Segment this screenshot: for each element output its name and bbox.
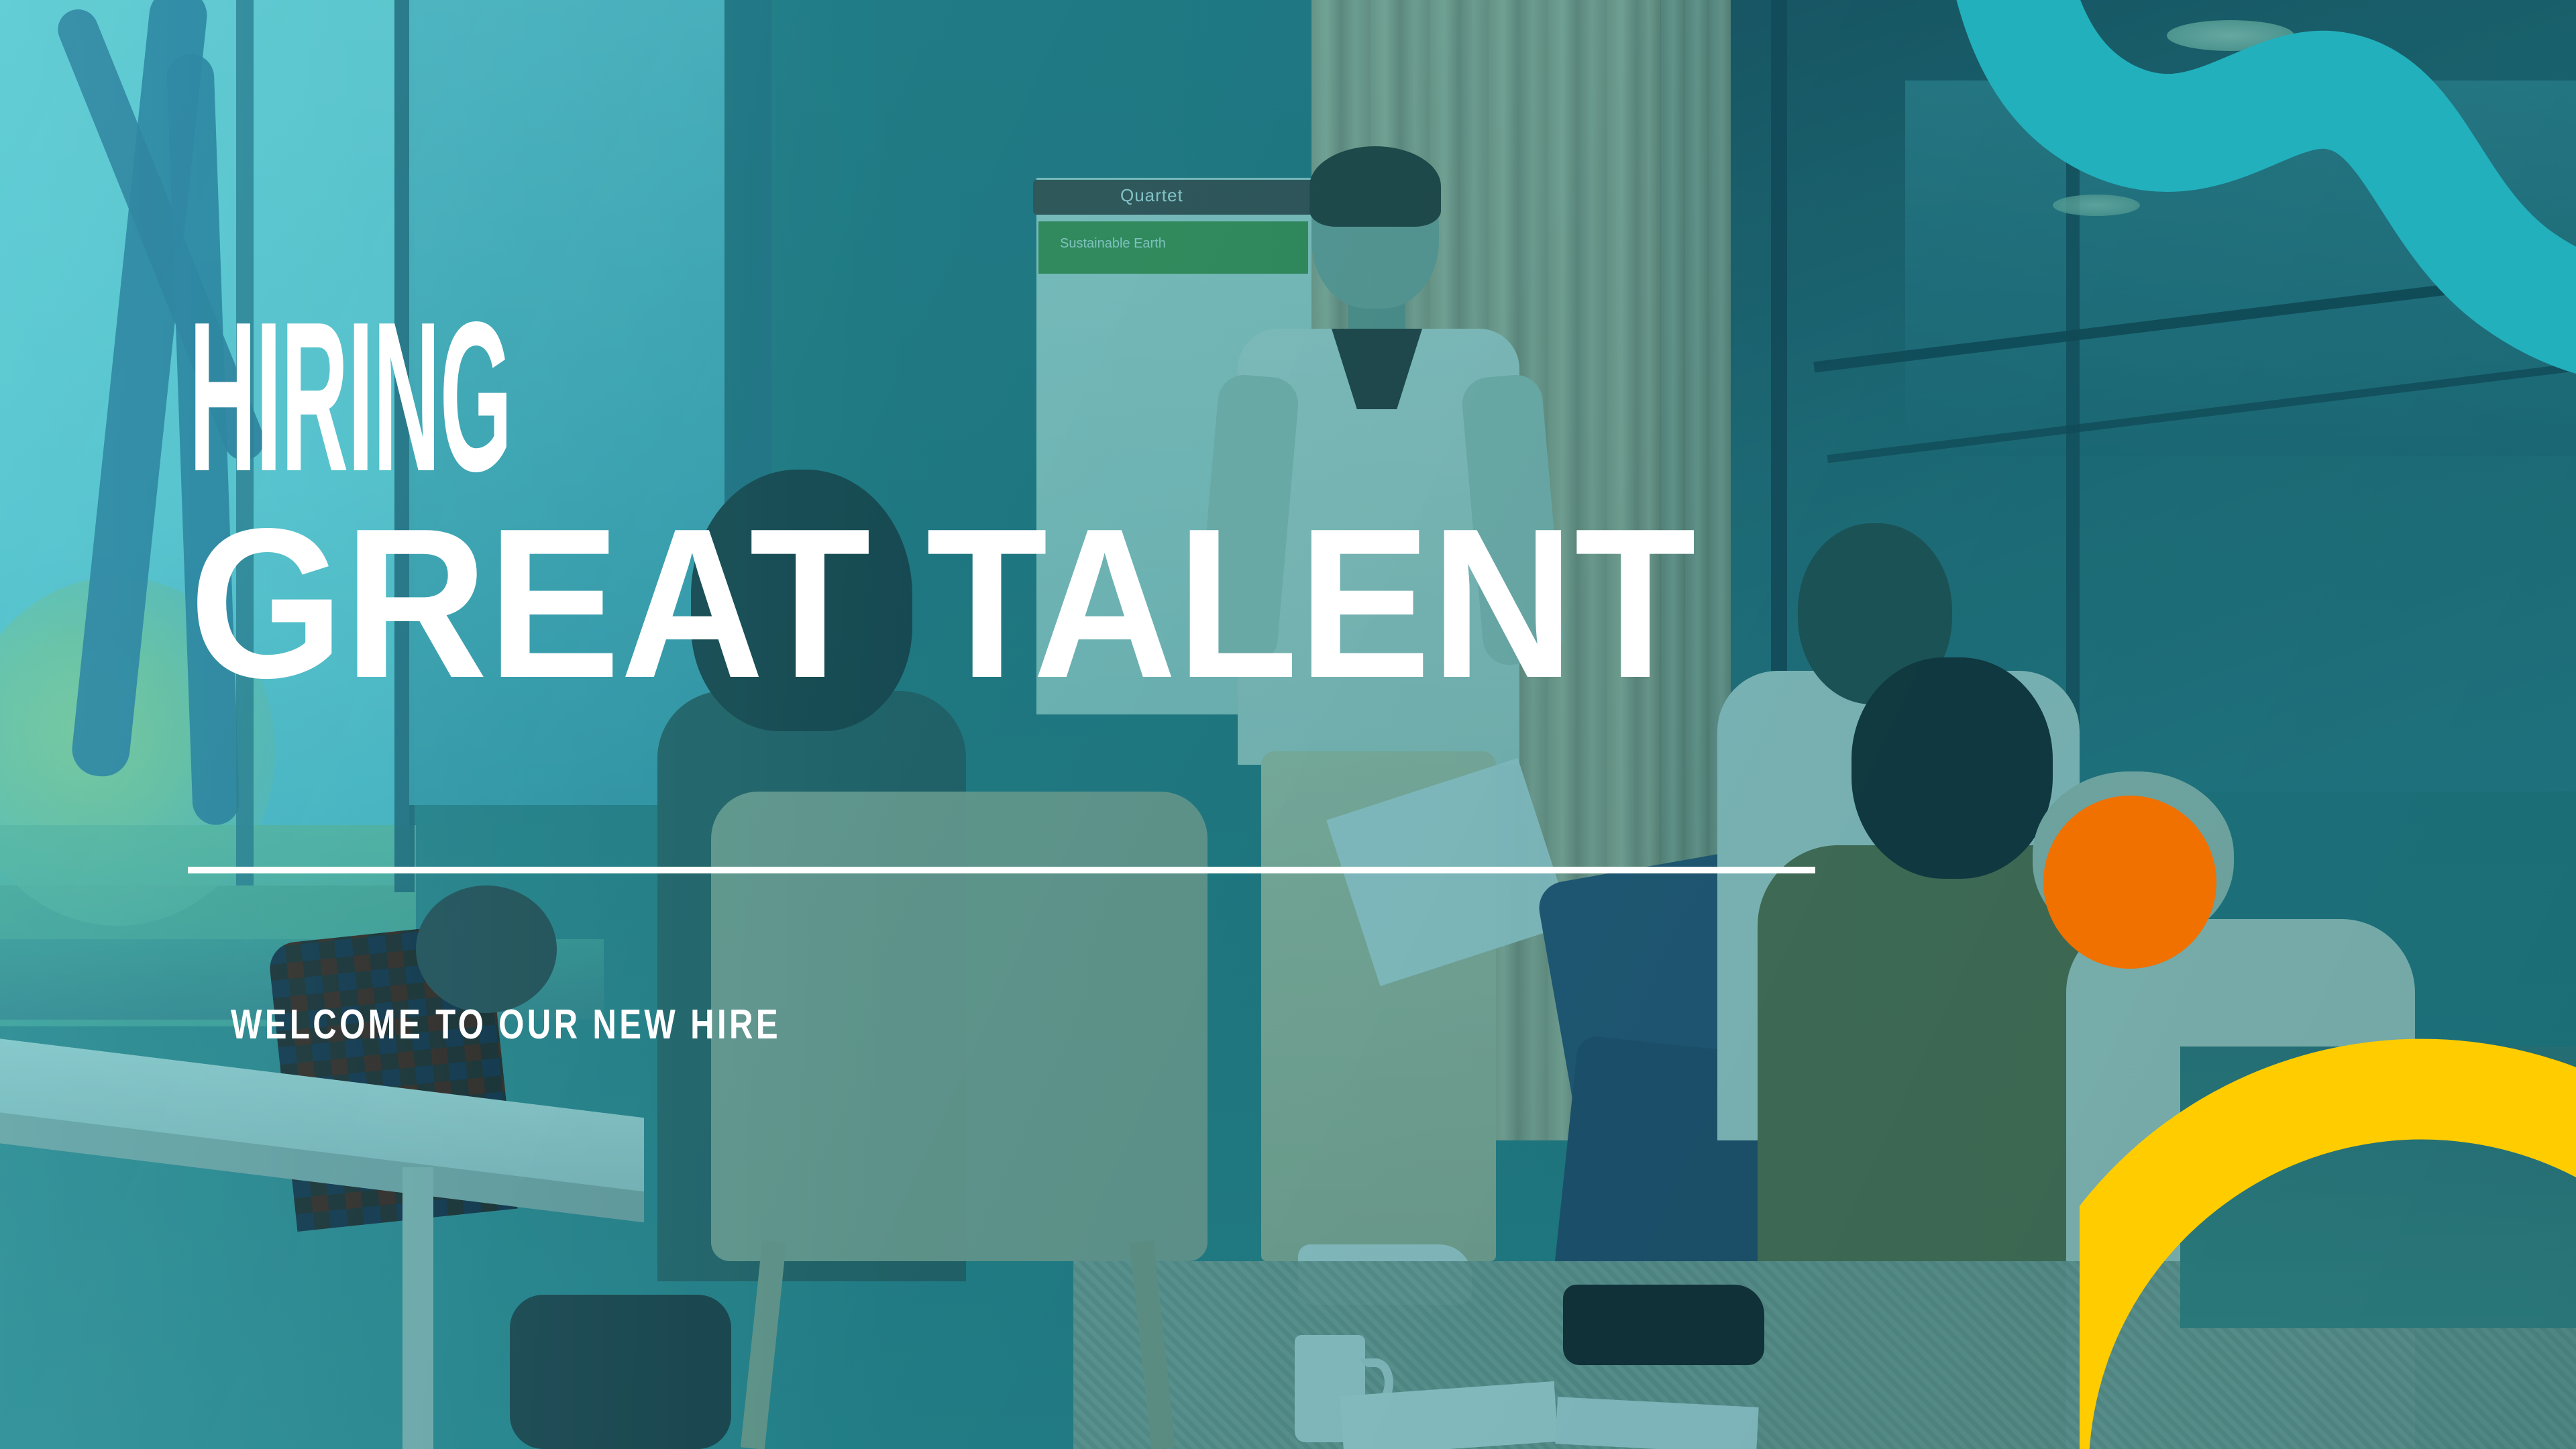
headline-line-1: HIRING bbox=[189, 303, 951, 491]
orange-circle-icon bbox=[2043, 796, 2216, 969]
headline-block: HIRING GREAT TALENT bbox=[189, 303, 1933, 698]
headline-divider-rule bbox=[188, 867, 1815, 873]
subtitle-text: WELCOME TO OUR NEW HIRE bbox=[231, 1001, 781, 1049]
cyan-highlight-overlay bbox=[0, 0, 2576, 1449]
hiring-banner: Quartet Sustainable Earth bbox=[0, 0, 2576, 1449]
headline-line-2: GREAT TALENT bbox=[189, 510, 1816, 698]
